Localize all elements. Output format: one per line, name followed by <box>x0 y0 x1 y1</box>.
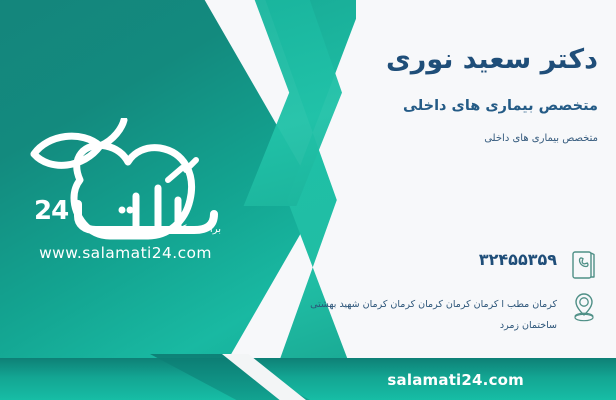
doctor-name: دکتر سعید نوری <box>386 44 598 75</box>
map-pin-icon <box>566 288 602 326</box>
info-panel: دکتر سعید نوری متخصص بیماری های داخلی مت… <box>276 0 616 358</box>
business-card: 24 براحتی یک لبخند www.salamati24.com دک… <box>0 0 616 400</box>
address-text-wrap: کرمان مطب ا کرمان کرمان کرمان کرمان کرما… <box>276 288 557 333</box>
contact-address-row[interactable]: کرمان مطب ا کرمان کرمان کرمان کرمان کرما… <box>276 288 602 333</box>
doctor-specialty: متخصص بیماری های داخلی <box>403 98 598 114</box>
footer-website-url[interactable]: salamati24.com <box>387 371 524 389</box>
phone-number[interactable]: ۳۲۴۵۵۳۵۹ <box>479 250 557 269</box>
logo-badge-24: 24 <box>34 196 68 226</box>
contact-phone-row[interactable]: ۳۲۴۵۵۳۵۹ <box>479 246 602 284</box>
phone-text: ۳۲۴۵۵۳۵۹ <box>479 246 557 269</box>
address-text: کرمان مطب ا کرمان کرمان کرمان کرمان کرما… <box>310 299 557 331</box>
logo-website-url[interactable]: www.salamati24.com <box>18 244 233 262</box>
logo-tagline: براحتی یک لبخند <box>154 224 222 235</box>
phone-book-icon <box>566 246 602 284</box>
brand-logo[interactable]: 24 براحتی یک لبخند www.salamati24.com <box>18 118 233 266</box>
doctor-specialty-secondary: متخصص بیماری های داخلی <box>484 133 598 144</box>
